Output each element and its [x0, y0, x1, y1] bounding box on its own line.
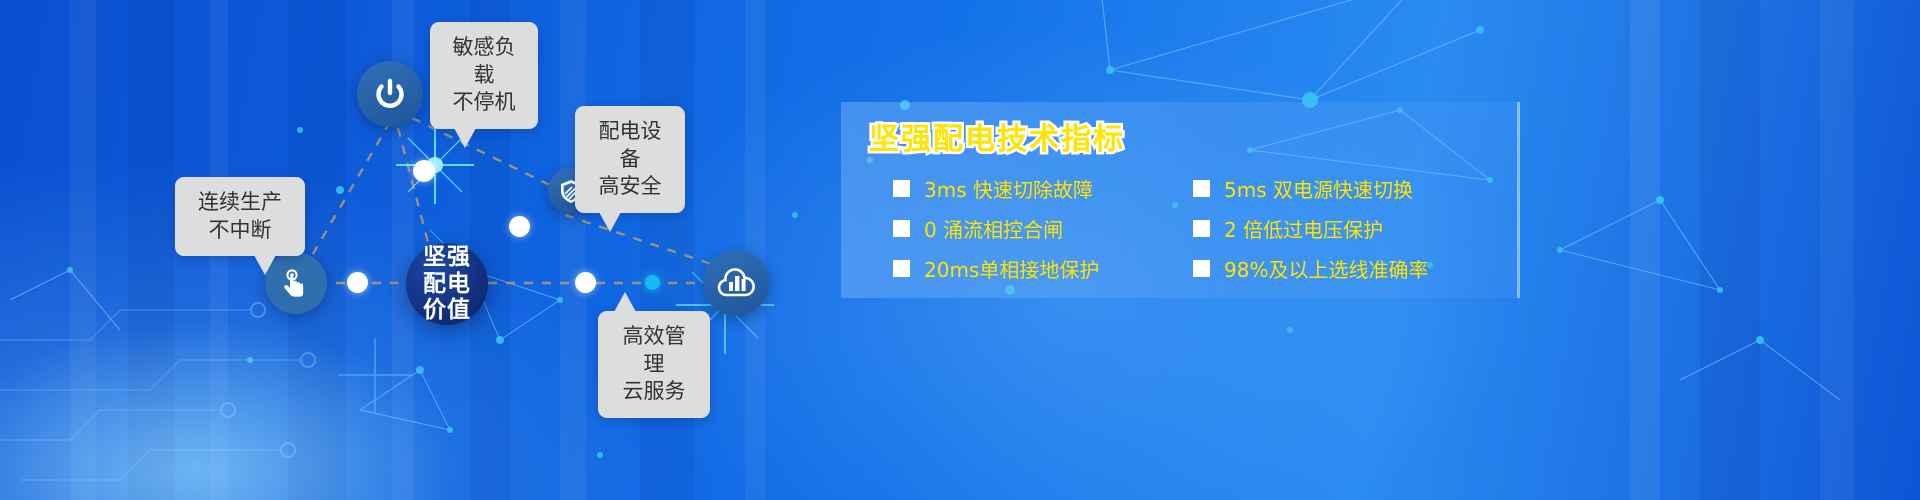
spec-label: 20ms单相接地保护 — [924, 254, 1099, 283]
bullet-square-icon — [1193, 180, 1210, 197]
spec-item: 2 倍低过电压保护 — [1193, 208, 1493, 248]
connector-dot — [509, 216, 530, 237]
center-node: 坚强 配电 价值 — [406, 243, 488, 325]
spec-item: 0 涌流相控合闸 — [893, 208, 1193, 248]
spec-list: 3ms 快速切除故障 5ms 双电源快速切换 0 涌流相控合闸 2 倍低过电压保… — [893, 168, 1507, 288]
bubble-cloud-service: 高效管理 云服务 — [598, 311, 710, 418]
spec-label: 0 涌流相控合闸 — [924, 214, 1063, 243]
spec-label: 3ms 快速切除故障 — [924, 174, 1093, 203]
bullet-square-icon — [1193, 220, 1210, 237]
spec-label: 98%及以上选线准确率 — [1224, 254, 1428, 283]
spec-label: 5ms 双电源快速切换 — [1224, 174, 1413, 203]
cloud-bar-chart-icon — [715, 265, 757, 301]
spec-item: 20ms单相接地保护 — [893, 248, 1193, 288]
power-button-icon — [372, 76, 408, 112]
spec-item: 98%及以上选线准确率 — [1193, 248, 1493, 288]
spec-item: 5ms 双电源快速切换 — [1193, 168, 1493, 208]
bullet-square-icon — [893, 180, 910, 197]
power-icon-node[interactable] — [357, 61, 423, 127]
bubble-power-equipment: 配电设备 高安全 — [575, 106, 685, 213]
hand-touch-icon — [279, 266, 313, 300]
panel-title: 坚强配电技术指标 — [869, 114, 1125, 158]
connector-dot — [575, 272, 596, 293]
banner-stage: 坚强 配电 价值 敏感负载 不停机 配电设备 高安全 连续生产 不中断 高效管理… — [0, 0, 1920, 500]
connector-dot — [347, 272, 368, 293]
bubble-sensitive-load: 敏感负载 不停机 — [430, 22, 538, 129]
spec-item: 3ms 快速切除故障 — [893, 168, 1193, 208]
bullet-square-icon — [893, 260, 910, 277]
bubble-continuous-production: 连续生产 不中断 — [175, 177, 305, 256]
connector-dot — [413, 160, 435, 182]
bullet-square-icon — [1193, 260, 1210, 277]
cloud-chart-icon-node[interactable] — [703, 250, 769, 316]
bullet-square-icon — [893, 220, 910, 237]
spec-panel: 坚强配电技术指标 3ms 快速切除故障 5ms 双电源快速切换 0 涌流相控合闸… — [841, 102, 1520, 298]
spec-label: 2 倍低过电压保护 — [1224, 214, 1383, 243]
value-diagram: 坚强 配电 价值 敏感负载 不停机 配电设备 高安全 连续生产 不中断 高效管理… — [0, 0, 980, 500]
connector-dot — [645, 275, 660, 290]
